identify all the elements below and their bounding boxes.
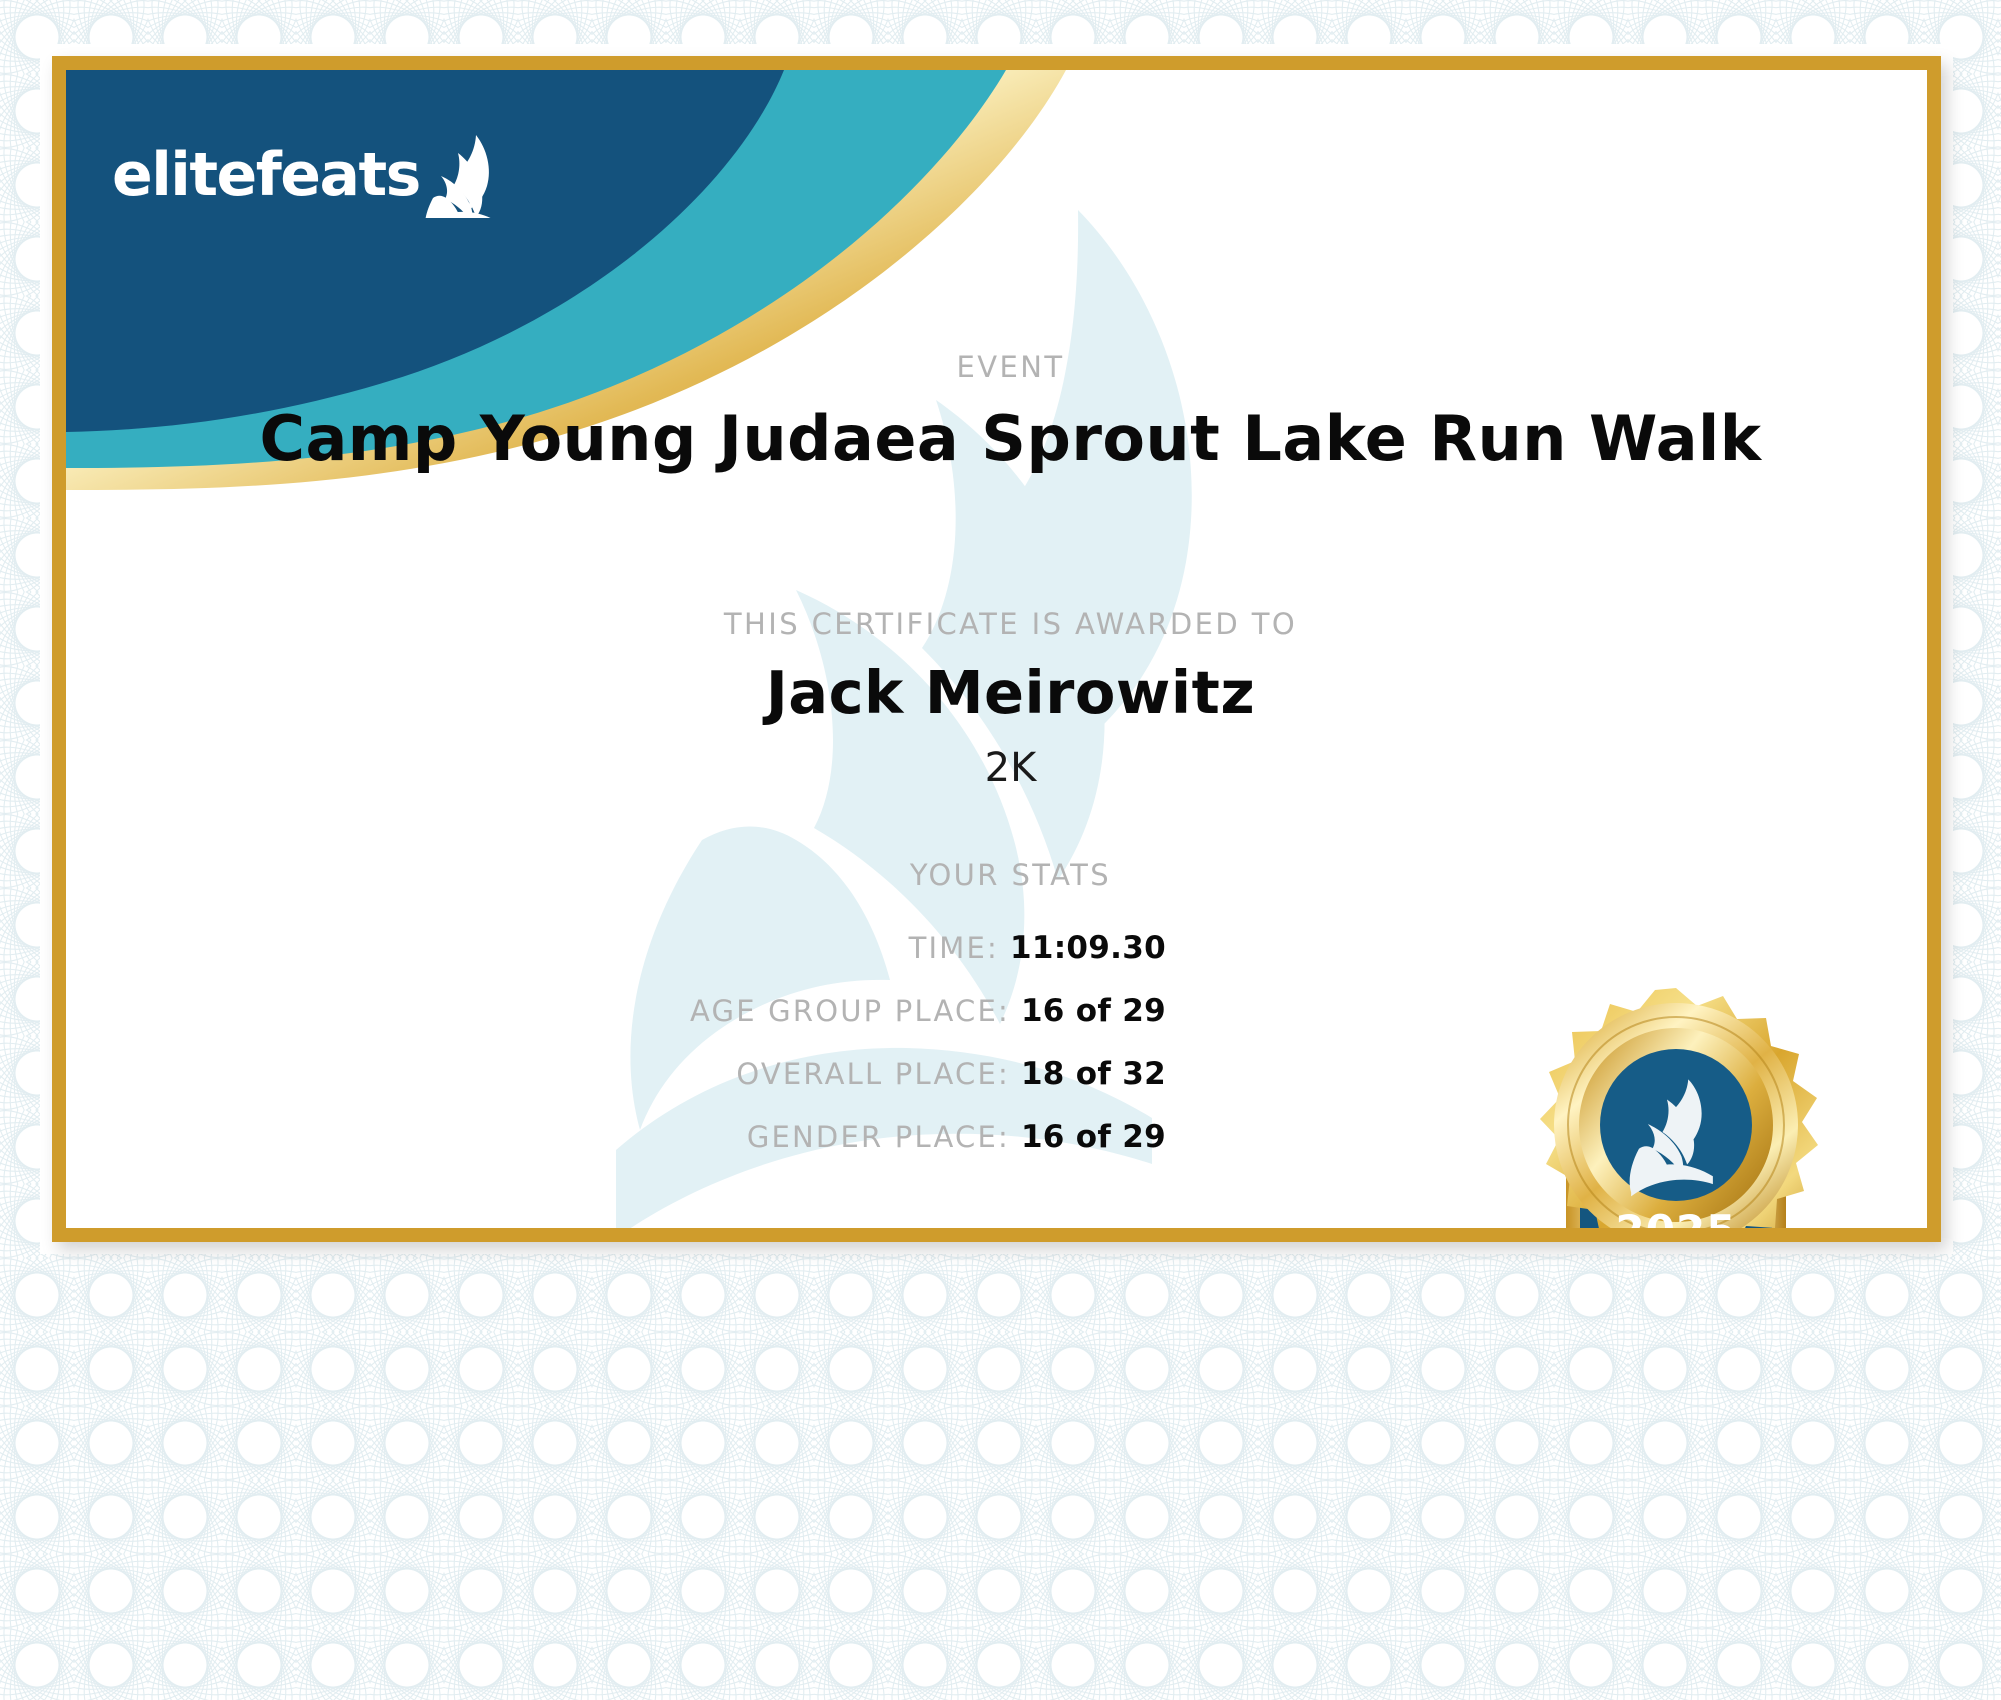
stat-value: 16 of 29	[1021, 993, 1166, 1029]
your-stats-label: YOUR STATS	[66, 858, 1927, 892]
certificate-paper: elitefeats EVENT Camp Young Judaea Sprou…	[0, 0, 2001, 1700]
certificate-body: elitefeats EVENT Camp Young Judaea Sprou…	[66, 70, 1927, 1228]
race-distance: 2K	[66, 745, 1927, 791]
finisher-medal-seal: 2025	[1496, 980, 1856, 1228]
event-name: Camp Young Judaea Sprout Lake Run Walk	[66, 402, 1927, 475]
stat-row-age-group-place: AGE GROUP PLACE: 16 of 29	[66, 993, 1166, 1029]
winged-foot-icon	[424, 132, 502, 218]
stat-row-time: TIME: 11:09.30	[66, 930, 1166, 966]
recipient-name: Jack Meirowitz	[66, 658, 1927, 727]
stat-value: 18 of 32	[1021, 1056, 1166, 1092]
gold-frame: elitefeats EVENT Camp Young Judaea Sprou…	[52, 56, 1941, 1242]
stat-label: OVERALL PLACE:	[736, 1057, 1010, 1091]
elitefeats-logo: elitefeats	[112, 132, 502, 218]
stat-value: 16 of 29	[1021, 1119, 1166, 1155]
logo-wordmark: elitefeats	[112, 145, 420, 205]
stat-label: GENDER PLACE:	[747, 1120, 1010, 1154]
stats-list: TIME: 11:09.30 AGE GROUP PLACE: 16 of 29…	[66, 930, 1166, 1182]
stat-label: TIME:	[909, 931, 999, 965]
medal-year: 2025	[1616, 1206, 1737, 1228]
awarded-to-label: THIS CERTIFICATE IS AWARDED TO	[66, 607, 1927, 641]
stat-value: 11:09.30	[1010, 930, 1166, 966]
stat-row-overall-place: OVERALL PLACE: 18 of 32	[66, 1056, 1166, 1092]
stat-row-gender-place: GENDER PLACE: 16 of 29	[66, 1119, 1166, 1155]
event-label: EVENT	[66, 350, 1927, 384]
stat-label: AGE GROUP PLACE:	[690, 994, 1010, 1028]
